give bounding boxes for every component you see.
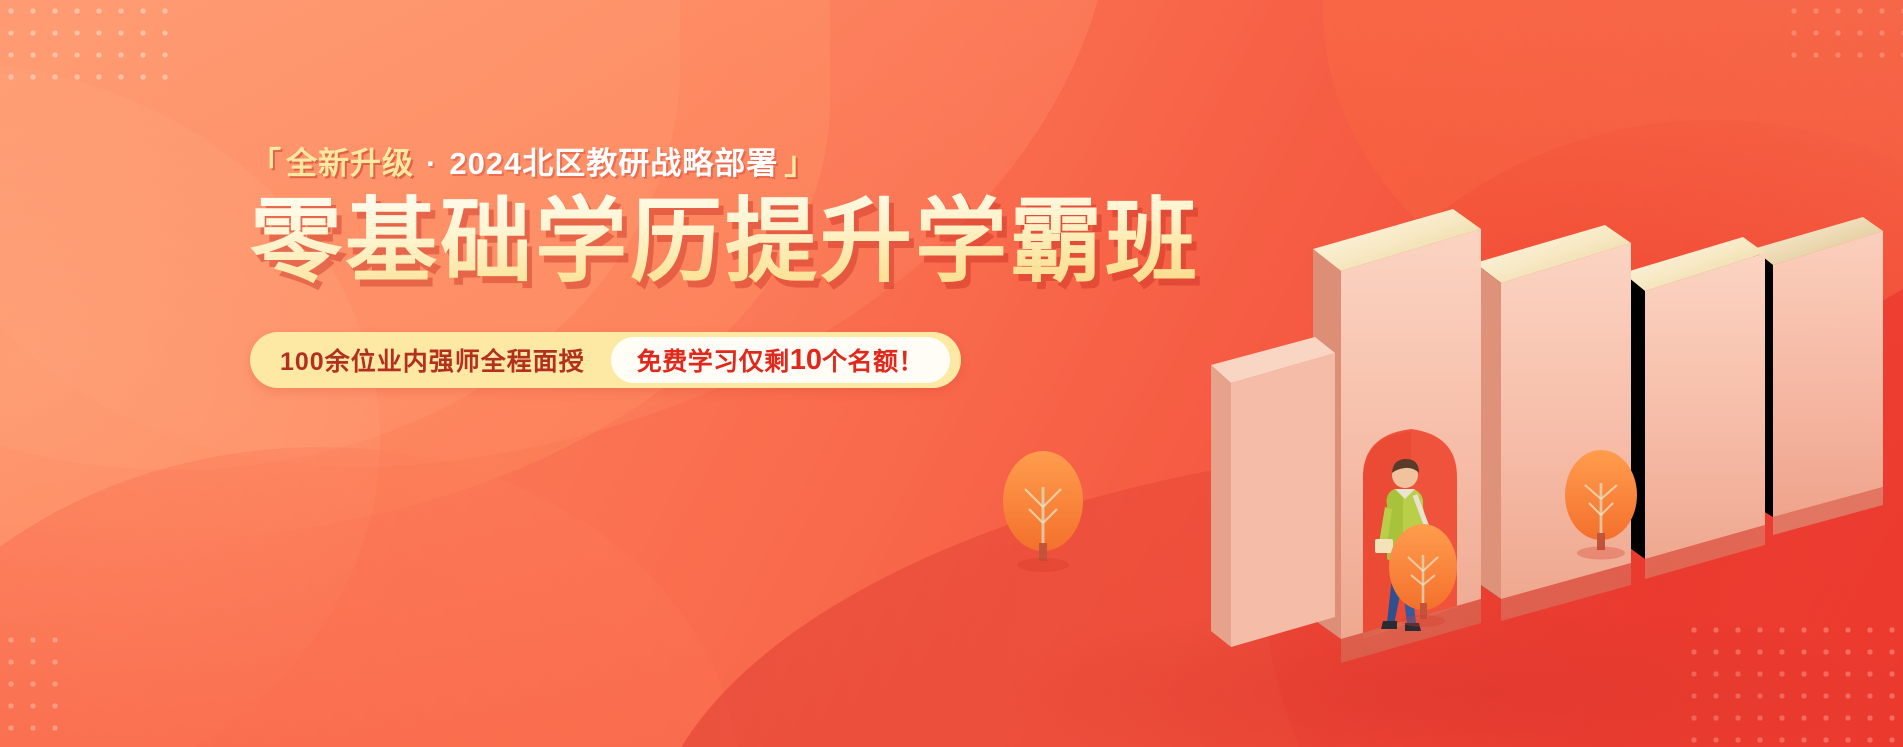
bracket-close-icon: 」 (784, 148, 816, 179)
page-title: 零基础学历提升学霸班 (250, 193, 1230, 292)
banner-copy: 「 全新升级 · 2024北区教研战略部署 」 零基础学历提升学霸班 100余位… (250, 148, 1230, 388)
bracket-open-icon: 「 (250, 148, 282, 179)
pill-left-label: 100余位业内强师全程面授 (250, 342, 611, 378)
banner-subtitle: 「 全新升级 · 2024北区教研战略部署 」 (250, 148, 1230, 179)
seats-remaining-badge: 免费学习仅剩 10 个名额！ (611, 337, 950, 383)
subtitle-main: 2024北区教研战略部署 (449, 148, 778, 179)
book-pillar-2 (1475, 225, 1631, 621)
subtitle-highlight: 全新升级 (286, 148, 414, 179)
seats-count: 10 (790, 344, 822, 377)
dot-pattern-top-right (1783, 0, 1903, 70)
seats-suffix: 个名额！ (822, 342, 924, 378)
seats-prefix: 免费学习仅剩 (637, 342, 790, 378)
promo-banner: 「 全新升级 · 2024北区教研战略部署 」 零基础学历提升学霸班 100余位… (0, 0, 1903, 747)
book-pillar-4 (1753, 217, 1883, 535)
dot-pattern-bottom-left (0, 629, 66, 747)
subtitle-separator: · (426, 148, 437, 179)
tree-left (1003, 451, 1083, 572)
book-pillar-3 (1623, 237, 1765, 579)
highlight-pill: 100余位业内强师全程面授 免费学习仅剩 10 个名额！ (250, 332, 961, 388)
dot-pattern-top-left (0, 0, 176, 96)
background-blob-bottom-left (0, 447, 740, 747)
